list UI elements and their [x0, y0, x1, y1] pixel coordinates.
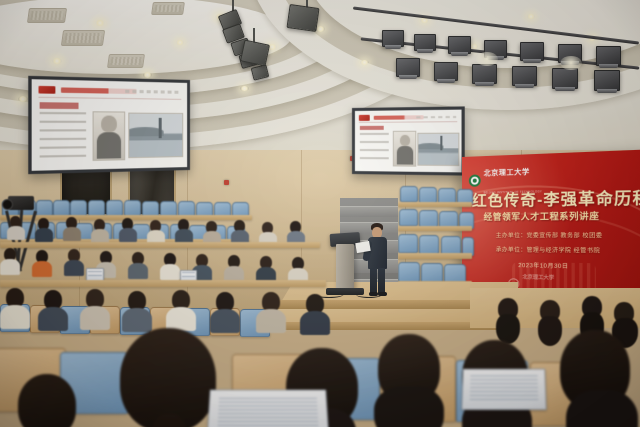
bit-emblem-icon: [469, 174, 481, 186]
slide-landscape-image: [418, 132, 459, 165]
slide-body-text: [360, 132, 389, 165]
banner-organizer-line: 承办单位：管理与经济学院 经管书院: [496, 245, 601, 254]
slide-heading-text: [360, 126, 391, 130]
banner-footer-cn: 北京理工大学: [522, 274, 554, 281]
seating-stage-right: [398, 186, 472, 292]
slide-portrait-image: [92, 111, 125, 161]
slide-meta-text: [416, 116, 456, 118]
projection-screen-right: [352, 106, 465, 175]
banner-logo-cn: 北京理工大学: [484, 169, 530, 178]
slide-heading-text: [40, 102, 89, 109]
party-emblem-icon: [359, 115, 369, 121]
lecture-hall-photo: 北京理工大学 BEIJING INSTITUTE OF TECHNOLOGY 红…: [0, 0, 640, 427]
laptop[interactable]: [461, 369, 547, 410]
banner-subtitle: 经管领军人才工程系列讲座: [484, 209, 640, 223]
banner-title: 红色传奇-李强革命历程: [472, 186, 640, 211]
audience-mid: [0, 216, 340, 292]
laptop[interactable]: [206, 390, 330, 427]
alarm-box: [224, 180, 229, 185]
projection-screen-left: [28, 76, 190, 174]
camera-lens-icon: [2, 199, 13, 210]
audience-foreground: [0, 330, 640, 427]
slide-portrait-image: [393, 131, 416, 166]
slide-right: [355, 110, 462, 173]
banner-host-line: 主办单位：党委宣传部 教务部 校团委: [496, 231, 603, 240]
slide-body-text: [40, 112, 86, 161]
slide-landscape-image: [128, 113, 183, 159]
party-emblem-icon: [38, 86, 55, 95]
slide-left: [32, 79, 187, 171]
